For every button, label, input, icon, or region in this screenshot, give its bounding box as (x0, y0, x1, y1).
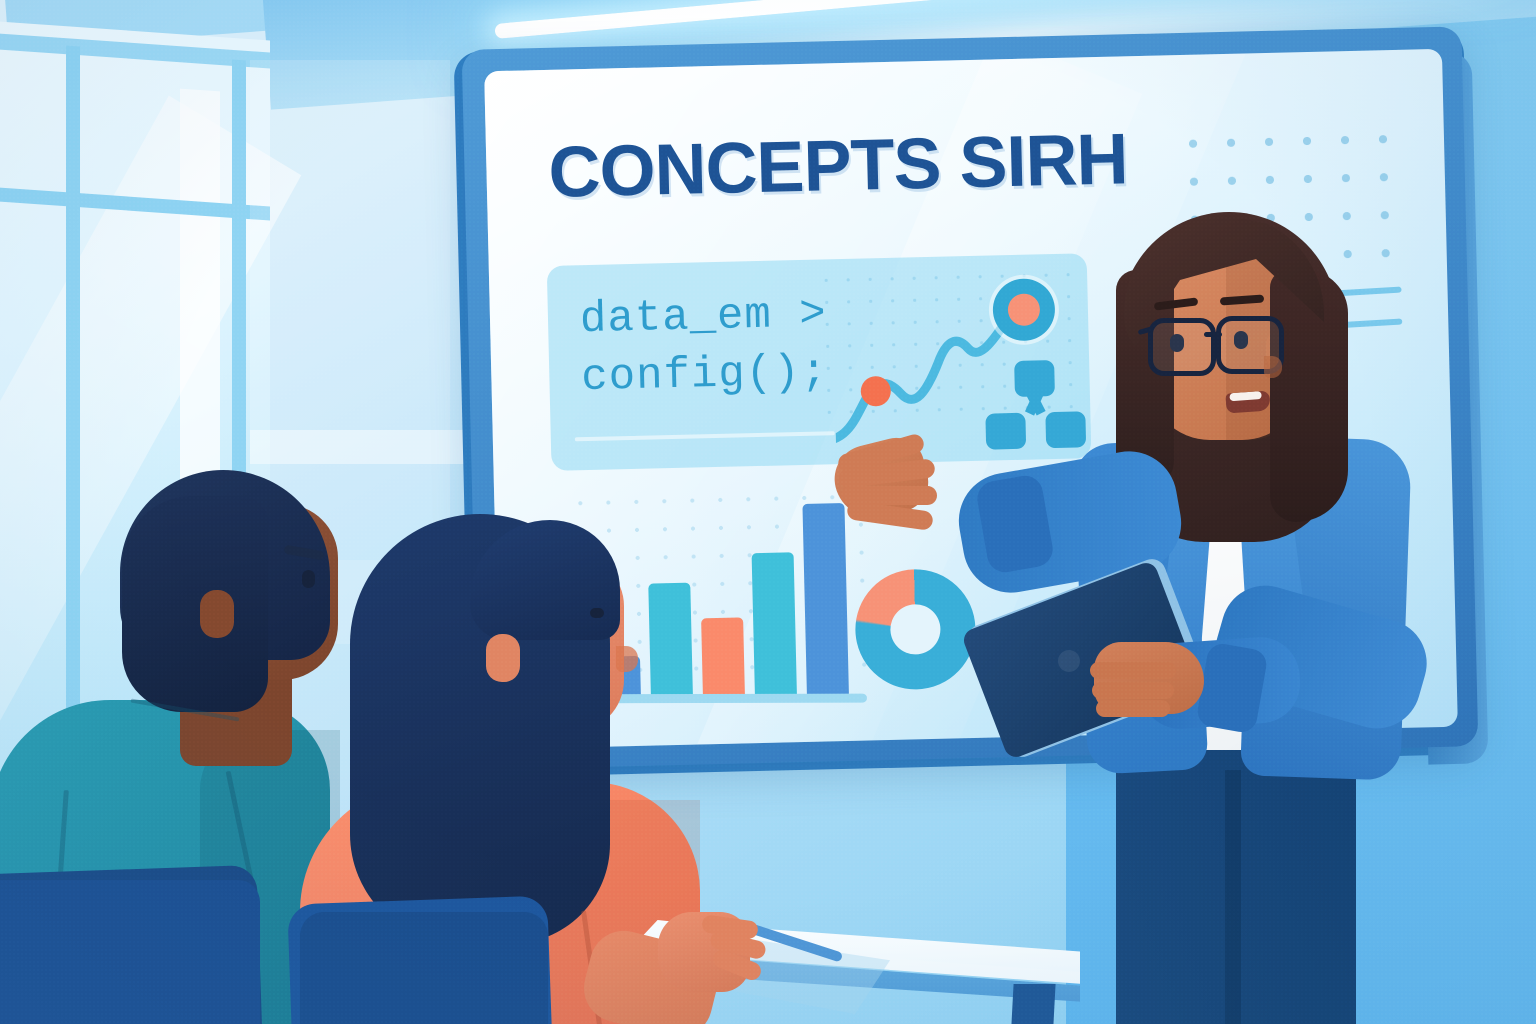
presenter-figure (1020, 210, 1460, 1024)
chair-1-back (0, 880, 260, 1024)
attendee-1-hair-side (122, 496, 268, 712)
presenter-grip-finger-3 (1096, 700, 1170, 717)
eyeglasses-icon-left-lens (1148, 318, 1216, 376)
presenter-teeth (1229, 391, 1261, 401)
code-panel: data_em > config(); (547, 253, 1092, 471)
illustration-canvas: CONCEPTS SIRH data_em > config(); (0, 0, 1536, 1024)
attendee-1-ear (200, 590, 234, 638)
slide-title: CONCEPTS SIRH (548, 118, 1129, 214)
donut-chart-hole (890, 604, 941, 655)
bar-4 (752, 552, 797, 697)
presenter-hand-open-palm (835, 442, 985, 550)
attendee-2-hand (658, 912, 778, 1018)
presenter-trouser-crease (1225, 770, 1241, 1024)
attendee-2-ear (486, 634, 520, 682)
attendee-2-nose (616, 646, 638, 672)
table-leg (1010, 984, 1055, 1024)
code-line-1: data_em > (579, 289, 827, 345)
eyeglasses-icon-bridge (1204, 332, 1222, 337)
chair-2-back (300, 912, 548, 1024)
presenter-nose (1264, 356, 1282, 378)
presenter-hand-holding (1094, 642, 1234, 738)
wall-accent-strip (250, 430, 480, 464)
presenter-grip-finger-1 (1090, 662, 1176, 679)
attendee-2-eye (590, 608, 604, 618)
code-line-2: config(); (581, 347, 829, 403)
code-panel-underline (575, 431, 835, 441)
tablet-camera-icon (1058, 650, 1080, 672)
presenter-grip-finger-2 (1092, 682, 1174, 699)
